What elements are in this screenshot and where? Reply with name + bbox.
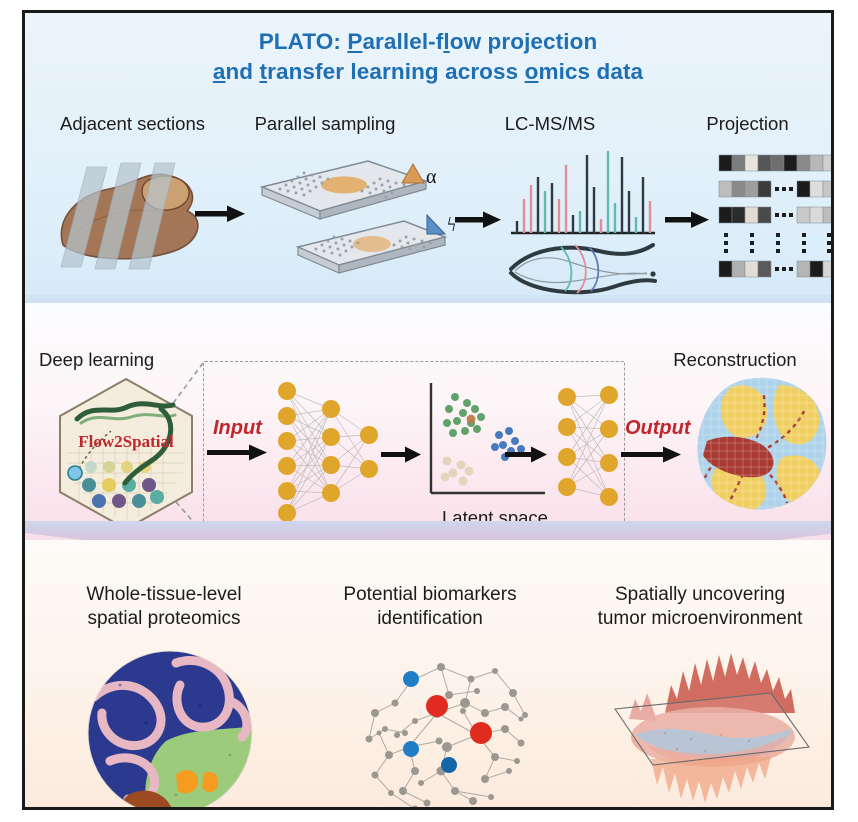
title-post: ow projection	[450, 29, 598, 54]
latent-space-plot	[423, 379, 563, 509]
arrow-input	[207, 443, 269, 463]
alpha-symbol: α	[426, 166, 437, 188]
well-plate-beta	[298, 221, 445, 273]
matrix-row-1	[719, 155, 834, 171]
network-edges	[369, 667, 525, 809]
title-ransfer: ransfer learning across	[267, 59, 525, 84]
title-u-a: a	[213, 59, 226, 84]
label-adjacent-sections: Adjacent sections	[25, 113, 240, 135]
encoder-network	[273, 379, 383, 524]
tumor-microenvironment-graphic	[595, 641, 825, 810]
figure-frame: PLATO: Parallel-flow projection and tran…	[22, 10, 834, 810]
title-u-o: o	[525, 59, 539, 84]
arrow-3	[665, 209, 711, 231]
spatial-proteomics-graphic	[80, 645, 260, 810]
flow-source-dot	[68, 466, 82, 480]
title-acronym: PLATO:	[259, 29, 348, 54]
projection-matrix-graphic	[715, 149, 834, 299]
title-line-1: PLATO: Parallel-flow projection	[25, 27, 831, 57]
label-output: Output	[625, 417, 691, 440]
label-parallel-sampling: Parallel sampling	[215, 113, 435, 135]
logo-text: Flow2Spatial	[78, 432, 174, 451]
label-input: Input	[213, 417, 262, 440]
label-projection: Projection	[655, 113, 834, 135]
highlight-point	[467, 415, 476, 424]
title-mics: mics data	[538, 59, 643, 84]
arrow-to-latent	[381, 445, 423, 465]
flow2spatial-logo: Flow2Spatial	[51, 375, 201, 533]
matrix-ellipsis-horizontal	[775, 187, 793, 271]
matrix-ellipsis-vertical	[724, 233, 831, 253]
reconstruction-graphic	[687, 371, 834, 531]
beige-cluster	[441, 457, 474, 486]
adjacent-sections-graphic	[35, 141, 215, 291]
label-whole-tissue: Whole-tissue-level spatial proteomics	[39, 583, 289, 632]
mass-spectrum-icon	[511, 151, 655, 233]
title-nd: nd	[225, 59, 259, 84]
title-u-p: P	[347, 29, 362, 54]
arrow-from-latent	[505, 445, 549, 465]
page-title: PLATO: Parallel-flow projection and tran…	[25, 27, 831, 87]
label-lcmsms: LC-MS/MS	[445, 113, 655, 135]
green-cluster	[443, 393, 485, 437]
title-u-t: t	[260, 59, 268, 84]
label-microenvironment: Spatially uncovering tumor microenvironm…	[565, 583, 834, 632]
title-mid: arallel-f	[362, 29, 443, 54]
biomarker-hub-nodes	[426, 695, 492, 744]
arrow-output	[621, 445, 683, 465]
biomarker-network-graphic	[345, 651, 540, 810]
label-reconstruction: Reconstruction	[635, 349, 834, 371]
terrain-lower	[651, 757, 771, 803]
network-nodes	[366, 663, 529, 810]
lcmsms-graphic	[495, 141, 670, 296]
title-line-2: and transfer learning across omics data	[25, 57, 831, 87]
axis-alpha-marker: α	[400, 161, 446, 189]
decoder-network	[551, 383, 631, 518]
graphical-abstract: PLATO: Parallel-flow projection and tran…	[0, 0, 858, 822]
label-biomarkers: Potential biomarkers identification	[300, 583, 560, 632]
peptide-flow-icon	[511, 245, 656, 293]
neuron-nodes	[278, 382, 378, 522]
